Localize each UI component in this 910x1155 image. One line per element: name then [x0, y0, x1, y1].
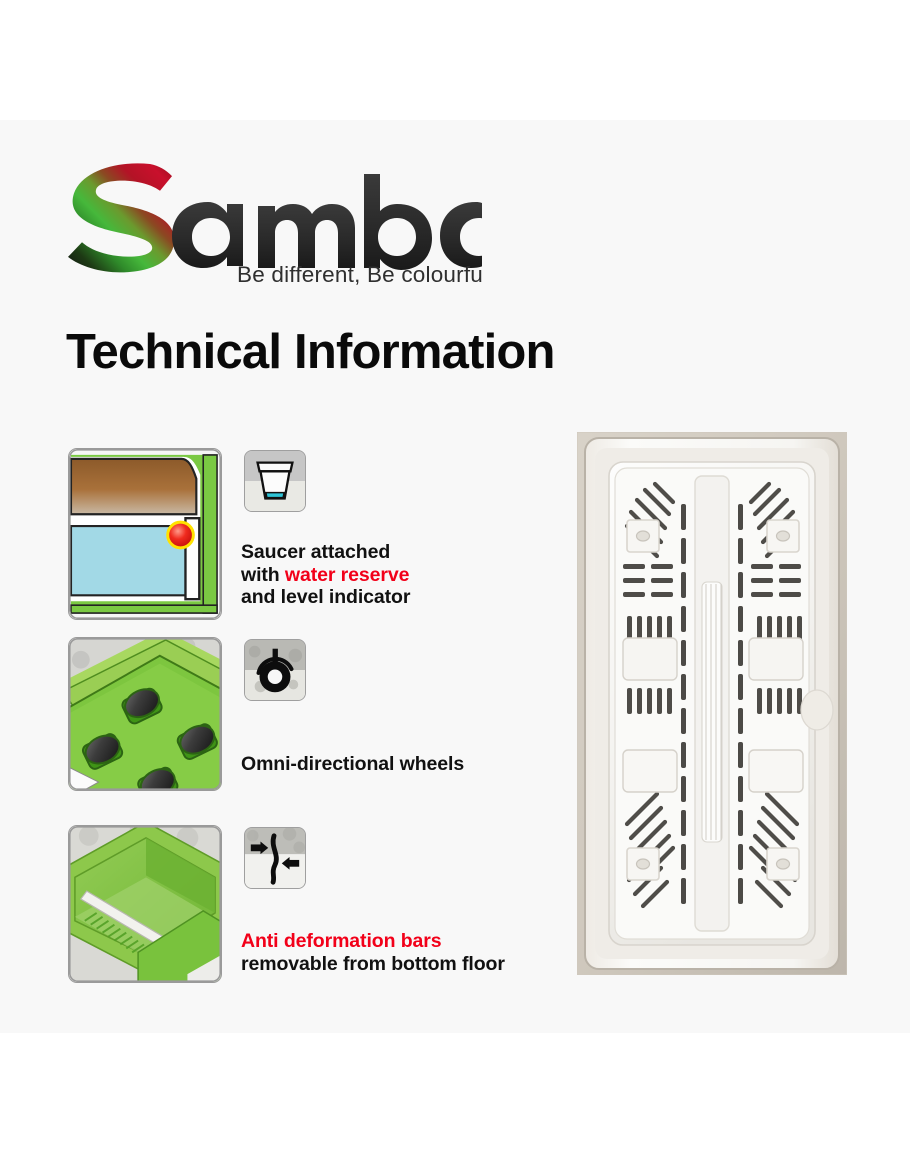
wheel-mount-plate — [627, 520, 659, 552]
feature-row-anti-deformation: Anti deformation bars removable from bot… — [68, 825, 548, 985]
feature-caption-water-reserve: Saucer attached with water reserve and l… — [241, 541, 410, 609]
deformation-arrows-icon — [244, 827, 306, 889]
side-tab — [801, 690, 833, 730]
caption-line-1: Saucer attached — [241, 541, 410, 564]
caption-line-2: with water reserve — [241, 564, 410, 587]
cross-section-saucer-diagram — [68, 448, 222, 620]
caster-wheel-icon — [244, 639, 306, 701]
pot-with-water-icon — [244, 450, 306, 512]
caption-line-1: Omni-directional wheels — [241, 753, 464, 776]
raised-block — [623, 638, 677, 680]
planter-bottom-photo — [577, 432, 847, 975]
caption-prefix: with — [241, 564, 285, 586]
level-indicator-ball — [168, 522, 194, 548]
feature-caption-anti-deformation: Anti deformation bars removable from bot… — [241, 930, 505, 975]
page-title: Technical Information — [66, 328, 555, 377]
feature-row-omni-wheels: Omni-directional wheels — [68, 637, 548, 792]
wheel-mount-plate — [767, 848, 799, 880]
feature-caption-omni-wheels: Omni-directional wheels — [241, 753, 464, 776]
caption-highlight: water reserve — [285, 564, 409, 586]
wheel-mount-plate — [767, 520, 799, 552]
caption-line-2: removable from bottom floor — [241, 953, 505, 976]
caption-line-1: Anti deformation bars — [241, 930, 505, 953]
raised-block — [749, 638, 803, 680]
planter-base-wheels-photo — [68, 637, 222, 791]
logo-s-letter — [68, 163, 174, 272]
caption-line-3: and level indicator — [241, 586, 410, 609]
planter-interior-bar-photo — [68, 825, 222, 983]
raised-block — [749, 750, 803, 792]
raised-block — [623, 750, 677, 792]
logo-wordmark — [172, 174, 482, 270]
feature-row-water-reserve: Saucer attached with water reserve and l… — [68, 448, 548, 623]
brand-tagline: Be different, Be colourful — [237, 262, 482, 287]
wheel-mount-plate — [627, 848, 659, 880]
page-root: Be different, Be colourful Technical Inf… — [0, 0, 910, 1155]
brand-logo: Be different, Be colourful — [62, 160, 482, 290]
